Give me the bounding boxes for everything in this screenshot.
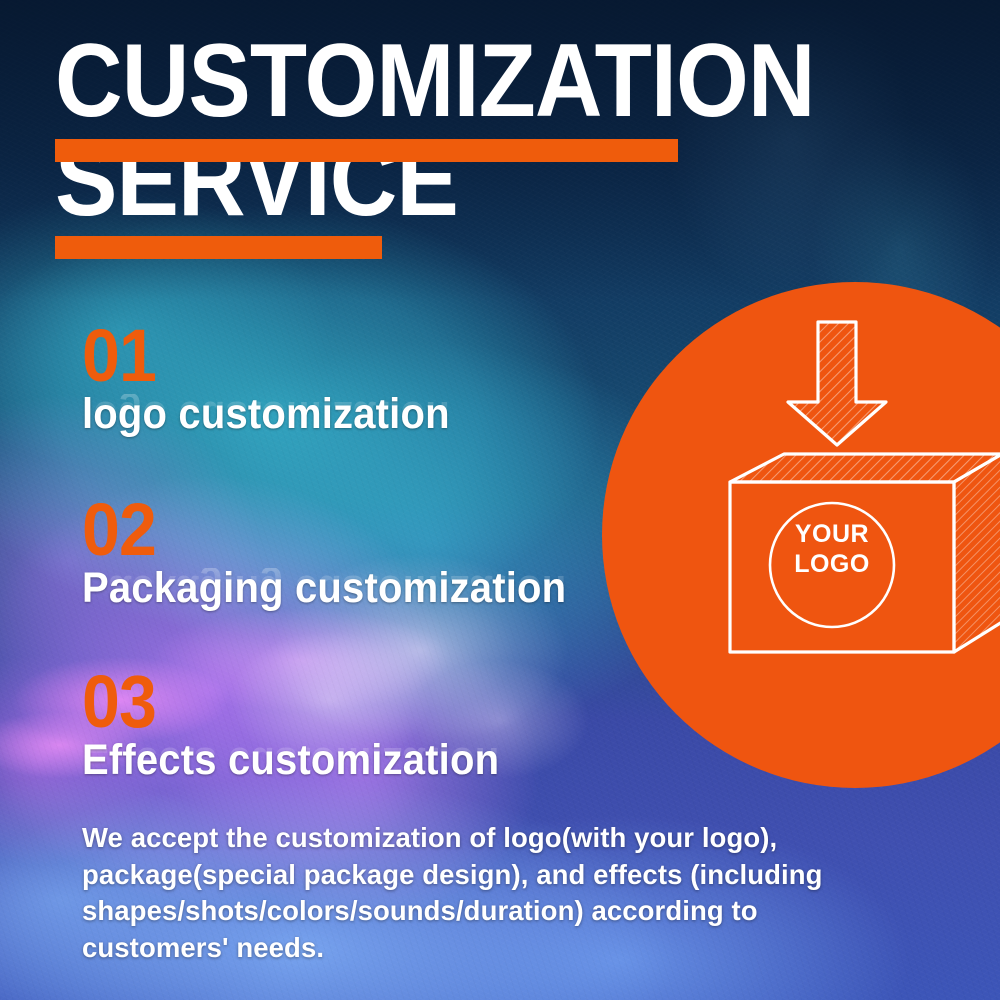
logo-placeholder-line-1: YOUR xyxy=(762,520,902,550)
poster-canvas: CUSTOMIZATION SERVICE 01 logo customizat… xyxy=(0,0,1000,1000)
arrow-down-icon xyxy=(788,322,886,445)
service-item-01-label: logo customization xyxy=(82,393,450,436)
poster-content: CUSTOMIZATION SERVICE 01 logo customizat… xyxy=(0,0,1000,1000)
page-title: CUSTOMIZATION SERVICE xyxy=(55,38,955,225)
body-paragraph: We accept the customization of logo(with… xyxy=(82,820,842,966)
service-item-03: 03 Effects customization Effects customi… xyxy=(82,672,531,826)
logo-placeholder-line-2: LOGO xyxy=(762,550,902,580)
service-item-02-label: Packaging customization xyxy=(82,567,566,610)
logo-placeholder-text: YOUR LOGO xyxy=(762,520,902,579)
headline-underline-bar-1 xyxy=(55,139,678,162)
service-item-02-number: 02 xyxy=(82,500,561,559)
service-item-03-label: Effects customization xyxy=(82,739,499,782)
service-item-03-number: 03 xyxy=(82,672,495,731)
service-item-01-number: 01 xyxy=(82,326,446,385)
headline-underline-bar-2 xyxy=(55,236,382,259)
service-item-02: 02 Packaging customization Packaging cus… xyxy=(82,500,603,654)
service-item-01: 01 logo customization logo customization xyxy=(82,326,477,480)
headline-line-1: CUSTOMIZATION xyxy=(55,38,865,125)
customization-illustration: YOUR LOGO xyxy=(602,282,1000,788)
